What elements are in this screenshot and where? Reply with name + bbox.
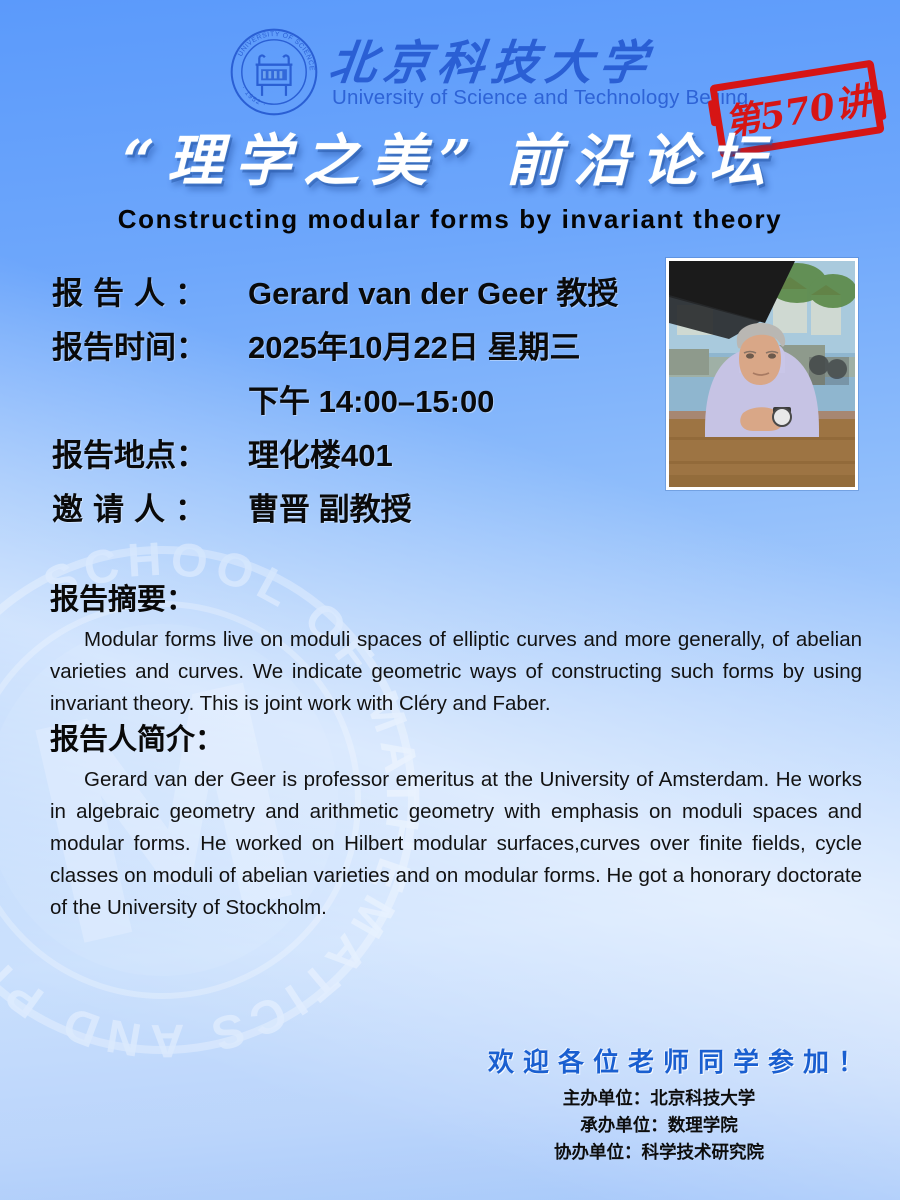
forum-title: “理学之美”前沿论坛 [0,116,900,197]
host-value: 曹晋 副教授 [248,484,412,529]
organizer-line: 协办单位：科学技术研究院 [494,1139,824,1166]
info-row-time-2: 下午 14:00–15:00 [52,376,672,430]
info-row-speaker: 报告人： Gerard van der Geer 教授 [52,268,672,322]
host-label: 邀请人： [52,484,248,529]
place-label: 报告地点： [52,430,248,475]
forum-quote-close: ” [439,128,483,194]
organizer-line: 承办单位：数理学院 [494,1112,824,1139]
university-name-en: University of Science and Technology Bei… [332,86,748,110]
forum-title-suffix: 前沿论坛 [505,128,777,194]
speaker-label: 报告人： [52,268,248,313]
poster-root: SCHOOL OF MATHEMATICS AND PHYSICS UNIVER… [0,0,900,1200]
welcome-message: 欢迎各位老师同学参加！ [488,1042,873,1079]
lecture-info-block: 报告人： Gerard van der Geer 教授 报告时间： 2025年1… [52,268,672,538]
poster-header: UNIVERSITY OF SCIENCE AND TECHNOLOGY · 1… [0,22,900,122]
place-value: 理化楼401 [248,430,393,475]
university-name-cn: 北京科技大学 [326,24,704,93]
bio-text: Gerard van der Geer is professor emeritu… [50,764,862,924]
ustb-seal-icon: UNIVERSITY OF SCIENCE AND TECHNOLOGY · 1… [228,26,320,118]
speaker-value: Gerard van der Geer 教授 [248,268,618,313]
bio-section: 报告人简介： Gerard van der Geer is professor … [50,716,862,924]
abstract-heading: 报告摘要： [50,576,862,618]
speaker-photo [666,258,858,490]
abstract-section: 报告摘要： Modular forms live on moduli space… [50,576,862,720]
info-row-host: 邀请人： 曹晋 副教授 [52,484,672,538]
time-value-2: 下午 14:00–15:00 [248,376,494,421]
talk-title: Constructing modular forms by invariant … [0,204,900,235]
organizers-block: 主办单位：北京科技大学 承办单位：数理学院 协办单位：科学技术研究院 [494,1085,824,1166]
time-label: 报告时间： [52,322,248,367]
info-row-place: 报告地点： 理化楼401 [52,430,672,484]
info-row-time: 报告时间： 2025年10月22日 星期三 [52,322,672,376]
time-value: 2025年10月22日 星期三 [248,322,581,367]
forum-title-main: 理学之美 [167,128,439,194]
abstract-text: Modular forms live on moduli spaces of e… [50,624,862,720]
organizer-line: 主办单位：北京科技大学 [494,1085,824,1112]
bio-heading: 报告人简介： [50,716,862,758]
forum-quote-open: “ [123,128,167,194]
